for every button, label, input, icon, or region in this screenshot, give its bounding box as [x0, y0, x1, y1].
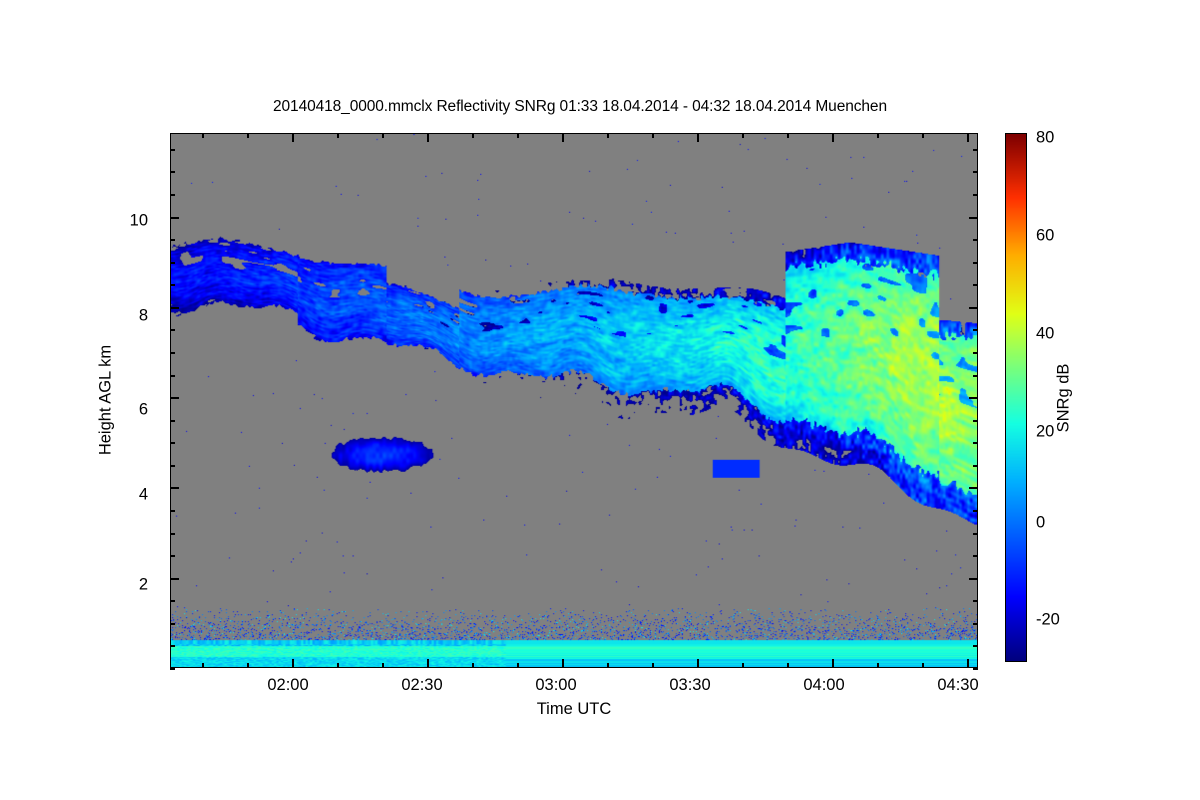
- colorbar-tick-label-20: 20: [1036, 423, 1054, 442]
- y-tick-left: [170, 645, 175, 647]
- y-tick-label-2: 2: [139, 576, 148, 595]
- colorbar-tick-label-60: 60: [1036, 227, 1054, 246]
- x-tick-bottom: [967, 659, 969, 668]
- colorbar-gradient: [1006, 134, 1026, 661]
- y-tick-right: [973, 510, 978, 512]
- x-tick-top: [337, 133, 339, 138]
- y-tick-left: [170, 420, 175, 422]
- y-tick-left: [170, 555, 175, 557]
- y-tick-right: [973, 352, 978, 354]
- y-tick-left: [170, 171, 175, 173]
- x-tick-label-0430: 04:30: [937, 676, 978, 695]
- x-tick-bottom: [247, 663, 249, 668]
- y-tick-right: [973, 375, 978, 377]
- x-tick-top: [472, 133, 474, 138]
- x-tick-bottom: [562, 659, 564, 668]
- y-tick-left: [170, 397, 179, 399]
- y-tick-left: [170, 307, 179, 309]
- colorbar-tick-label-0: 0: [1036, 514, 1045, 533]
- x-axis-label: Time UTC: [537, 700, 612, 719]
- y-tick-right: [973, 442, 978, 444]
- figure-root: 20140418_0000.mmclx Reflectivity SNRg 01…: [0, 0, 1200, 800]
- y-tick-right: [973, 262, 978, 264]
- x-tick-top: [967, 133, 969, 142]
- y-tick-left: [170, 600, 175, 602]
- y-tick-right: [973, 668, 978, 670]
- y-tick-right: [969, 487, 978, 489]
- x-tick-top: [292, 133, 294, 142]
- x-tick-top: [247, 133, 249, 138]
- y-tick-right: [969, 217, 978, 219]
- y-tick-label-6: 6: [139, 401, 148, 420]
- y-tick-right: [973, 239, 978, 241]
- y-tick-left: [170, 668, 175, 670]
- y-axis: 10 8 6 4 2: [0, 0, 162, 800]
- y-tick-left: [170, 329, 175, 331]
- y-tick-left: [170, 465, 175, 467]
- colorbar-tick-label-80: 80: [1036, 129, 1054, 148]
- x-tick-top: [697, 133, 699, 142]
- reflectivity-heatmap: [171, 134, 977, 667]
- y-tick-left: [170, 262, 175, 264]
- x-tick-bottom: [742, 663, 744, 668]
- x-tick-bottom: [697, 659, 699, 668]
- x-tick-top: [607, 133, 609, 138]
- x-tick-top: [202, 133, 204, 138]
- x-tick-top: [922, 133, 924, 138]
- x-tick-top: [382, 133, 384, 138]
- colorbar-tick-label-m20: -20: [1036, 611, 1060, 630]
- y-tick-label-4: 4: [139, 486, 148, 505]
- x-tick-bottom: [337, 663, 339, 668]
- x-tick-label-0300: 03:00: [535, 676, 576, 695]
- x-tick-bottom: [877, 663, 879, 668]
- y-axis-label: Height AGL km: [97, 345, 116, 455]
- y-tick-right: [973, 171, 978, 173]
- x-tick-bottom: [607, 663, 609, 668]
- x-tick-bottom: [517, 663, 519, 668]
- y-tick-left: [170, 623, 175, 625]
- page-title: 20140418_0000.mmclx Reflectivity SNRg 01…: [0, 98, 1160, 116]
- y-tick-left: [170, 194, 175, 196]
- x-tick-top: [427, 133, 429, 142]
- y-tick-right: [969, 307, 978, 309]
- plot-area[interactable]: [170, 133, 978, 668]
- x-tick-top: [832, 133, 834, 142]
- y-tick-right: [973, 420, 978, 422]
- y-tick-left: [170, 217, 179, 219]
- colorbar-label: SNRg dB: [1055, 364, 1074, 433]
- x-tick-label-0200: 02:00: [267, 676, 308, 695]
- x-tick-top: [787, 133, 789, 138]
- x-tick-bottom: [292, 659, 294, 668]
- y-tick-right: [973, 555, 978, 557]
- y-tick-left: [170, 149, 175, 151]
- y-tick-left: [170, 442, 175, 444]
- y-tick-left: [170, 487, 179, 489]
- y-tick-left: [170, 510, 175, 512]
- x-tick-bottom: [652, 663, 654, 668]
- x-tick-bottom: [427, 659, 429, 668]
- x-tick-bottom: [787, 663, 789, 668]
- x-tick-bottom: [382, 663, 384, 668]
- y-tick-left: [170, 239, 175, 241]
- y-tick-left: [170, 578, 179, 580]
- y-tick-left: [170, 533, 175, 535]
- x-tick-label-0400: 04:00: [803, 676, 844, 695]
- y-tick-right: [973, 329, 978, 331]
- y-tick-label-10: 10: [130, 212, 148, 231]
- y-tick-right: [973, 623, 978, 625]
- x-tick-top: [517, 133, 519, 138]
- y-tick-right: [973, 149, 978, 151]
- y-tick-right: [973, 645, 978, 647]
- colorbar-tick-label-40: 40: [1036, 325, 1054, 344]
- y-tick-right: [969, 578, 978, 580]
- x-tick-label-0230: 02:30: [401, 676, 442, 695]
- y-tick-left: [170, 375, 175, 377]
- y-tick-left: [170, 352, 175, 354]
- y-tick-right: [973, 533, 978, 535]
- x-tick-top: [877, 133, 879, 138]
- x-tick-top: [562, 133, 564, 142]
- y-tick-right: [973, 465, 978, 467]
- x-tick-bottom: [922, 663, 924, 668]
- x-tick-top: [652, 133, 654, 138]
- y-tick-label-8: 8: [139, 307, 148, 326]
- x-tick-bottom: [202, 663, 204, 668]
- x-tick-top: [742, 133, 744, 138]
- y-tick-right: [973, 194, 978, 196]
- x-tick-bottom: [832, 659, 834, 668]
- y-tick-right: [973, 600, 978, 602]
- colorbar: [1005, 133, 1027, 662]
- y-tick-left: [170, 284, 175, 286]
- y-tick-right: [973, 284, 978, 286]
- y-tick-right: [969, 397, 978, 399]
- x-tick-label-0330: 03:30: [669, 676, 710, 695]
- x-tick-bottom: [472, 663, 474, 668]
